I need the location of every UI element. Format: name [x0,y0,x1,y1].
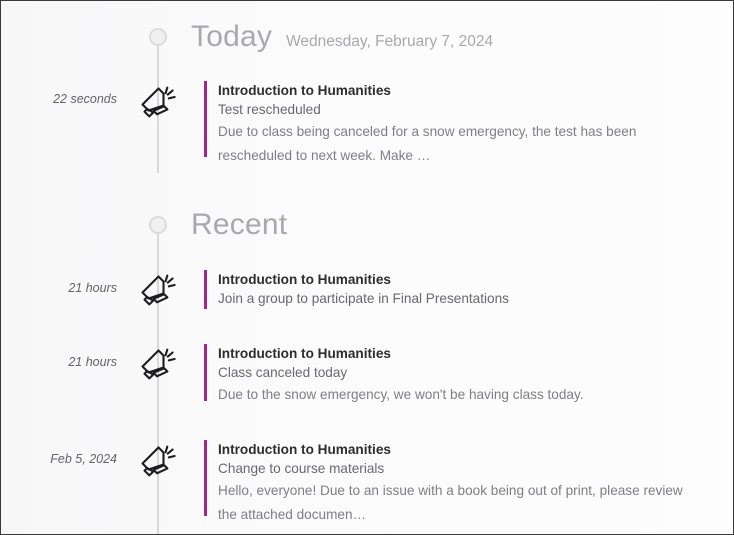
section-date: Wednesday, February 7, 2024 [286,34,493,50]
notification-stream: Today Wednesday, February 7, 2024 22 sec… [1,1,733,534]
timeline-dot-icon [149,216,167,234]
notifications-viewport: Today Wednesday, February 7, 2024 22 sec… [0,0,734,535]
section-title: Recent [191,210,287,240]
notification-subject: Class canceled today [218,363,717,383]
notification-body: Hello, everyone! Due to an issue with a … [218,479,688,527]
megaphone-icon [134,438,182,486]
notification-subject: Join a group to participate in Final Pre… [218,289,717,309]
notification-timestamp: 22 seconds [21,92,117,106]
notification-subject: Test rescheduled [218,100,717,120]
notification-course: Introduction to Humanities [218,440,717,459]
section-title: Today [191,22,272,52]
notification-course: Introduction to Humanities [218,270,717,289]
megaphone-icon [134,79,182,127]
timeline-dot-icon [149,28,167,46]
notification-timestamp: Feb 5, 2024 [21,452,117,466]
notification-card[interactable]: Introduction to Humanities Test reschedu… [204,81,717,157]
notification-body: Due to the snow emergency, we won't be h… [218,383,688,407]
notification-card[interactable]: Introduction to Humanities Class cancele… [204,344,717,401]
notification-subject: Change to course materials [218,459,717,479]
notification-card[interactable]: Introduction to Humanities Join a group … [204,270,717,309]
megaphone-icon [134,267,182,315]
notification-course: Introduction to Humanities [218,344,717,363]
notification-body: Due to class being canceled for a snow e… [218,120,688,168]
notification-card[interactable]: Introduction to Humanities Change to cou… [204,440,717,516]
notification-timestamp: 21 hours [21,281,117,295]
notification-course: Introduction to Humanities [218,81,717,100]
megaphone-icon [134,341,182,389]
notification-timestamp: 21 hours [21,355,117,369]
